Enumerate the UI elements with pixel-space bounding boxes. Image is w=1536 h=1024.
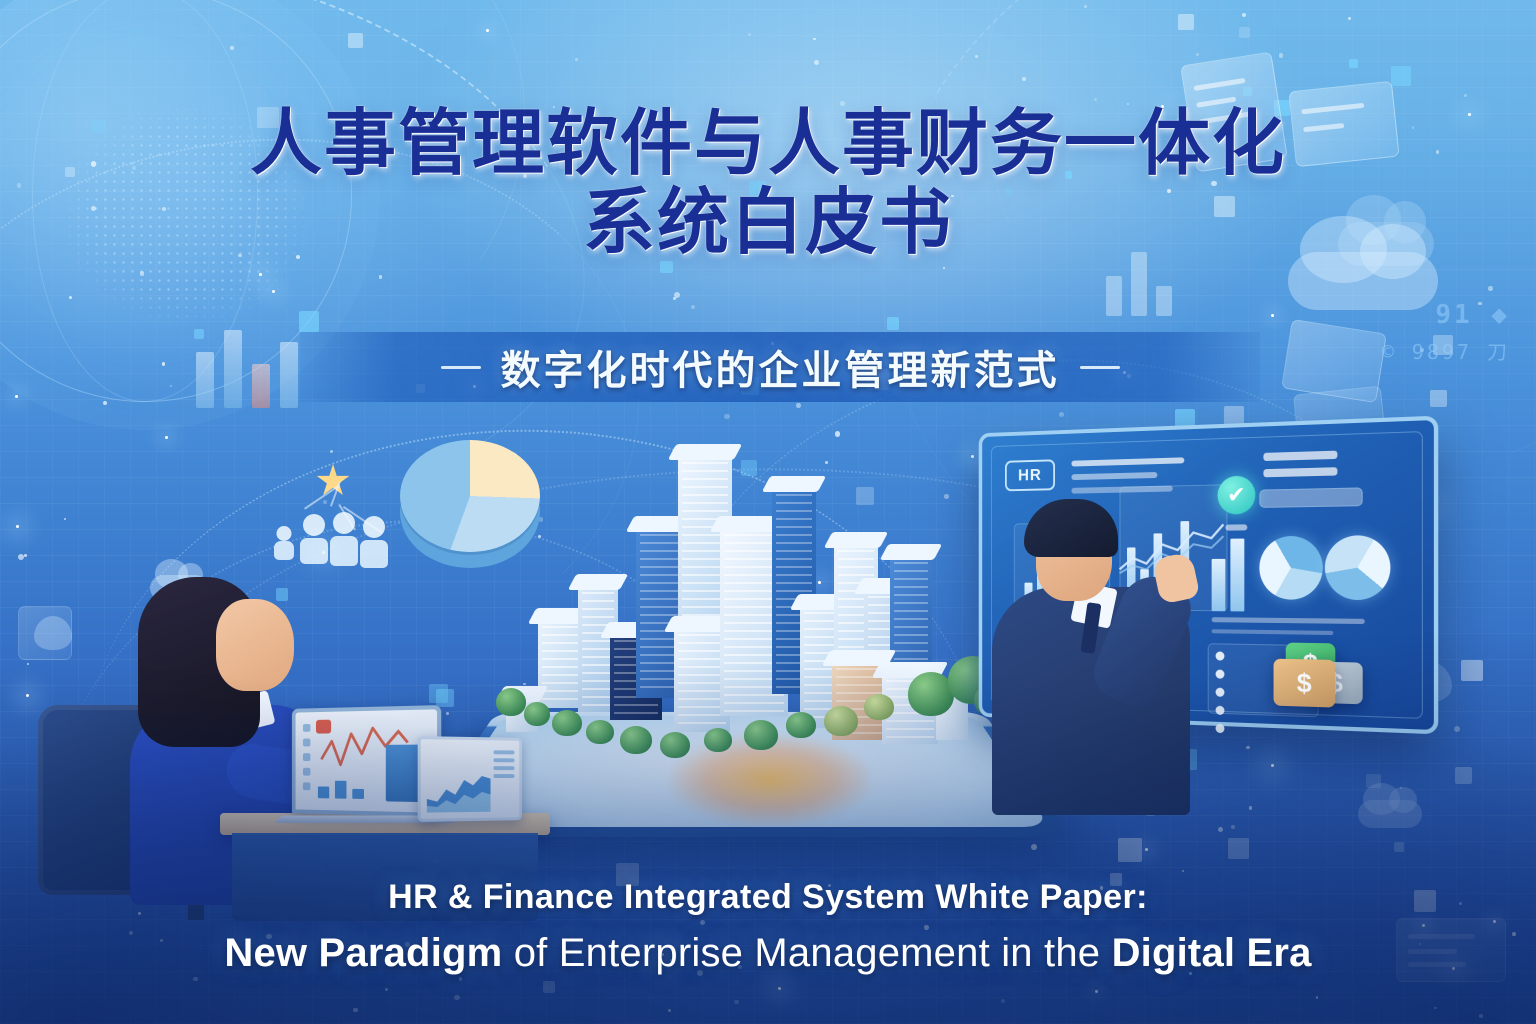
background-bar-chart [196, 330, 298, 408]
decor-square [1391, 66, 1410, 85]
dashboard-search-field[interactable] [1259, 487, 1362, 508]
subtitle-text: 数字化时代的企业管理新范式 [501, 338, 1060, 396]
decor-dot [193, 977, 197, 981]
subtitle-band: 数字化时代的企业管理新范式 [300, 332, 1260, 402]
glow-star [1145, 848, 1148, 851]
decor-dot [734, 1000, 739, 1005]
decor-dot [1279, 53, 1283, 57]
decor-dot [1001, 999, 1005, 1003]
background-bar-chart [1106, 252, 1172, 316]
poster-canvas: HR ✔ [0, 0, 1536, 1024]
corner-numerals-bottom: © 9897 刀 [1382, 336, 1510, 365]
decor-dot [813, 38, 816, 41]
corner-numerals-top: 91 ◆ [1435, 300, 1510, 330]
decor-dot [1031, 844, 1037, 850]
glow-star [259, 273, 262, 276]
decor-dot [796, 403, 801, 408]
decor-square [1118, 838, 1141, 861]
decor-dot [674, 292, 680, 298]
dashboard-checklist [1216, 651, 1225, 733]
decor-dot [353, 1008, 357, 1012]
decor-dot [1488, 286, 1493, 291]
decor-dot [814, 60, 819, 65]
glow-star [1095, 990, 1098, 993]
decor-square [1430, 390, 1447, 407]
decor-square [1349, 59, 1358, 68]
decor-square [348, 33, 364, 49]
woman-face [216, 599, 294, 691]
donut-chart-icon [1259, 536, 1322, 600]
glow-star [486, 29, 489, 32]
footer-block: HR & Finance Integrated System White Pap… [0, 878, 1536, 976]
decor-dot [748, 33, 751, 36]
decor-dot [103, 401, 107, 405]
decor-dot [691, 305, 695, 309]
decor-dot [323, 500, 327, 504]
decor-dot [575, 58, 578, 61]
decor-dot [162, 362, 165, 365]
decor-dot [668, 1009, 671, 1012]
decor-dot [1316, 996, 1319, 999]
decor-dot [1242, 13, 1246, 17]
money-card-tan: $ [1274, 659, 1336, 708]
decor-square [1461, 660, 1482, 681]
decor-dot [1434, 1007, 1436, 1009]
status-line [1225, 524, 1247, 530]
hr-badge: HR [1005, 459, 1055, 491]
decor-dot [1196, 53, 1199, 56]
tablet-legend [493, 750, 514, 778]
decor-square [543, 981, 555, 993]
decor-dot [385, 988, 388, 991]
decor-dot [1231, 825, 1235, 829]
footer-bold-2: Digital Era [1112, 931, 1312, 975]
decor-dot [64, 518, 66, 520]
glow-star [778, 987, 781, 990]
man-at-dashboard-illustration: HR ✔ [950, 415, 1460, 815]
page-title-line2: 系统白皮书 [0, 187, 1536, 260]
footer-line-2: New Paradigm of Enterprise Management in… [0, 931, 1536, 976]
page-title-line1: 人事管理软件与人事财务一体化 [0, 108, 1536, 181]
decor-square [1239, 27, 1250, 38]
laptop-sidebar-icons [303, 724, 310, 790]
glow-star [15, 395, 18, 398]
decor-dot [1084, 5, 1087, 8]
footer-bold-1: New Paradigm [224, 931, 502, 975]
glow-star [1271, 314, 1274, 317]
footer-line-1: HR & Finance Integrated System White Pap… [0, 878, 1536, 917]
tablet-area-chart [427, 772, 491, 813]
decor-dot [1182, 870, 1184, 872]
tablet-screen [418, 736, 522, 822]
donut-chart-icon [1325, 535, 1391, 600]
decor-dot [69, 296, 72, 299]
dashboard-bar-chart-right [1212, 539, 1245, 612]
title-block: 人事管理软件与人事财务一体化 系统白皮书 [0, 108, 1536, 261]
decor-dot [724, 414, 729, 419]
decor-square [1394, 842, 1404, 852]
decor-square [1178, 14, 1194, 30]
decor-square [887, 317, 899, 329]
laptop-bar-chart [318, 781, 364, 799]
decor-dot [1218, 827, 1223, 832]
decor-dot [459, 977, 463, 981]
decor-dot [1479, 1014, 1483, 1018]
footer-light-1: of Enterprise Management in the [502, 931, 1111, 975]
decor-square [299, 311, 319, 331]
decor-dot [454, 995, 460, 1001]
decor-square [1228, 838, 1248, 858]
rule-right-icon [1080, 366, 1120, 369]
rule-left-icon [441, 366, 481, 369]
